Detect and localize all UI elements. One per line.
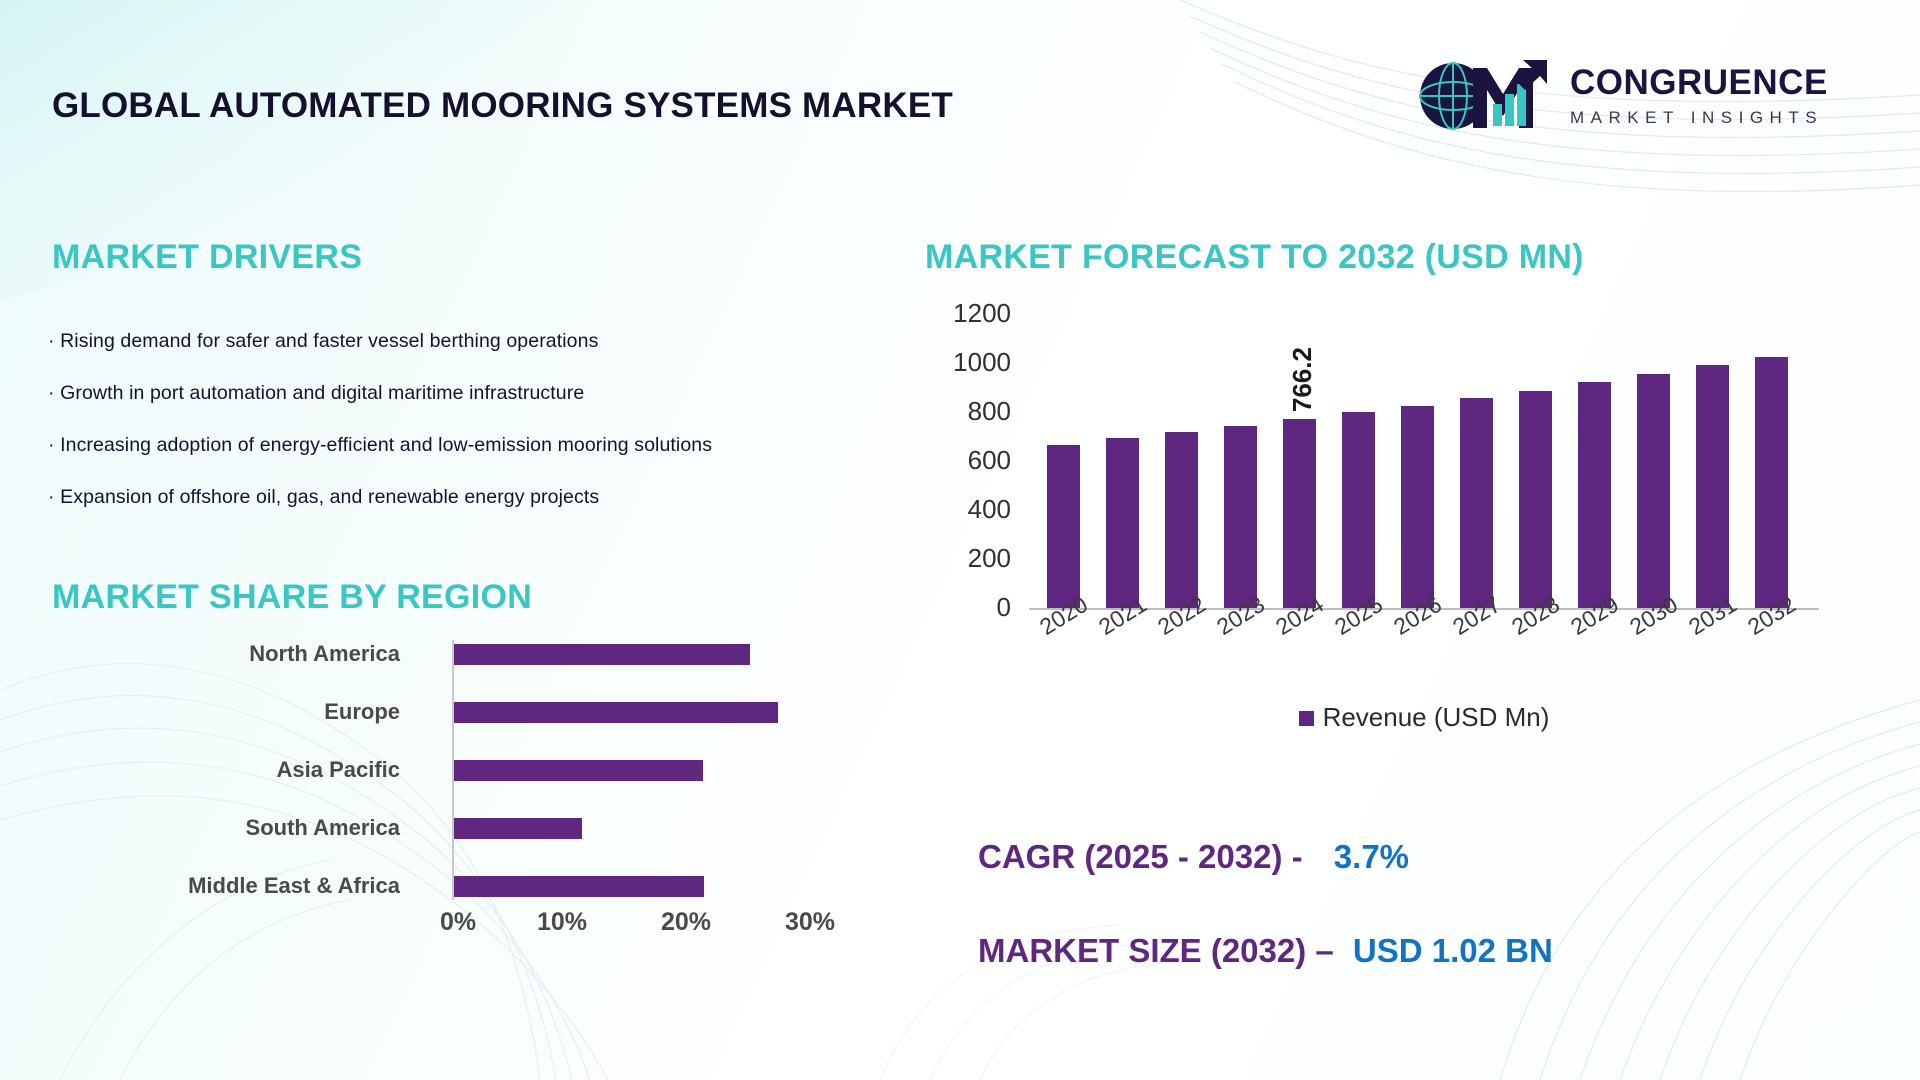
forecast-bar: 766.2 bbox=[1283, 419, 1316, 608]
hbar-category-label: South America bbox=[48, 814, 400, 842]
market-share-heading: MARKET SHARE BY REGION bbox=[52, 578, 532, 617]
cagr-value: 3.7% bbox=[1334, 838, 1409, 875]
market-share-chart: North America Europe Asia Pacific South … bbox=[48, 640, 888, 990]
forecast-x-axis-labels: 2020 2021 2022 2023 2024 2025 2026 2027 … bbox=[1029, 618, 1819, 688]
hbar-tick-label: 20% bbox=[661, 908, 711, 937]
hbar-row: Middle East & Africa bbox=[48, 872, 888, 900]
driver-item: · Growth in port automation and digital … bbox=[48, 382, 928, 404]
cagr-stat: CAGR (2025 - 2032) - 3.7% bbox=[978, 838, 1409, 876]
infographic-page: GLOBAL AUTOMATED MOORING SYSTEMS MARKET … bbox=[0, 0, 1920, 1080]
forecast-bar bbox=[1578, 382, 1611, 608]
hbar-category-label: Asia Pacific bbox=[48, 756, 400, 784]
market-size-label: MARKET SIZE (2032) – bbox=[978, 932, 1334, 969]
y-tick-label: 600 bbox=[925, 447, 1011, 473]
hbar-bar bbox=[454, 876, 704, 897]
page-title: GLOBAL AUTOMATED MOORING SYSTEMS MARKET bbox=[52, 86, 953, 126]
forecast-bar bbox=[1637, 374, 1670, 608]
forecast-bar bbox=[1460, 398, 1493, 608]
hbar-axis-ticks: 0% 10% 20% 30% bbox=[428, 908, 868, 942]
forecast-bar bbox=[1165, 432, 1198, 608]
driver-item: · Expansion of offshore oil, gas, and re… bbox=[48, 486, 928, 508]
forecast-bar-data-label: 766.2 bbox=[1287, 347, 1318, 412]
hbar-tick-label: 30% bbox=[785, 908, 835, 937]
cagr-label: CAGR (2025 - 2032) - bbox=[978, 838, 1303, 875]
forecast-bar bbox=[1224, 426, 1257, 608]
brand-logo: CONGRUENCE MARKET INSIGHTS bbox=[1415, 48, 1875, 153]
forecast-bar bbox=[1047, 445, 1080, 608]
y-tick-label: 800 bbox=[925, 398, 1011, 424]
market-size-stat: MARKET SIZE (2032) – USD 1.02 BN bbox=[978, 932, 1553, 970]
legend-swatch-icon bbox=[1299, 711, 1314, 726]
y-tick-label: 400 bbox=[925, 496, 1011, 522]
market-drivers-heading: MARKET DRIVERS bbox=[52, 238, 362, 277]
hbar-bar bbox=[454, 644, 750, 665]
hbar-category-label: Europe bbox=[48, 698, 400, 726]
hbar-bar bbox=[454, 760, 703, 781]
hbar-row: Asia Pacific bbox=[48, 756, 888, 784]
y-tick-label: 0 bbox=[925, 594, 1011, 620]
hbar-category-label: Middle East & Africa bbox=[48, 872, 400, 900]
forecast-bar bbox=[1755, 357, 1788, 608]
forecast-bar bbox=[1106, 438, 1139, 608]
logo-tagline: MARKET INSIGHTS bbox=[1570, 108, 1828, 128]
hbar-bar bbox=[454, 818, 582, 839]
hbar-row: North America bbox=[48, 640, 888, 668]
y-tick-label: 1000 bbox=[925, 349, 1011, 375]
hbar-row: South America bbox=[48, 814, 888, 842]
logo-mark-icon bbox=[1415, 50, 1565, 142]
market-forecast-chart: 1200 1000 800 600 400 200 0 766.2 2020 2… bbox=[925, 300, 1845, 720]
logo-company-name: CONGRUENCE bbox=[1570, 64, 1828, 102]
forecast-bar bbox=[1401, 406, 1434, 608]
forecast-plot-area: 766.2 bbox=[1029, 312, 1819, 610]
forecast-bar bbox=[1519, 391, 1552, 608]
forecast-legend: Revenue (USD Mn) bbox=[1029, 702, 1819, 733]
logo-text: CONGRUENCE MARKET INSIGHTS bbox=[1570, 64, 1828, 128]
market-drivers-list: · Rising demand for safer and faster ves… bbox=[48, 330, 928, 538]
legend-label: Revenue (USD Mn) bbox=[1323, 702, 1550, 732]
hbar-row: Europe bbox=[48, 698, 888, 726]
driver-item: · Increasing adoption of energy-efficien… bbox=[48, 434, 928, 456]
hbar-bar bbox=[454, 702, 778, 723]
forecast-bar bbox=[1696, 365, 1729, 608]
driver-item: · Rising demand for safer and faster ves… bbox=[48, 330, 928, 352]
market-size-value: USD 1.02 BN bbox=[1353, 932, 1553, 969]
forecast-bar bbox=[1342, 412, 1375, 608]
hbar-tick-label: 0% bbox=[440, 908, 476, 937]
market-forecast-heading: MARKET FORECAST TO 2032 (USD MN) bbox=[925, 238, 1584, 277]
hbar-tick-label: 10% bbox=[537, 908, 587, 937]
hbar-category-label: North America bbox=[48, 640, 400, 668]
y-tick-label: 1200 bbox=[925, 300, 1011, 326]
y-tick-label: 200 bbox=[925, 545, 1011, 571]
